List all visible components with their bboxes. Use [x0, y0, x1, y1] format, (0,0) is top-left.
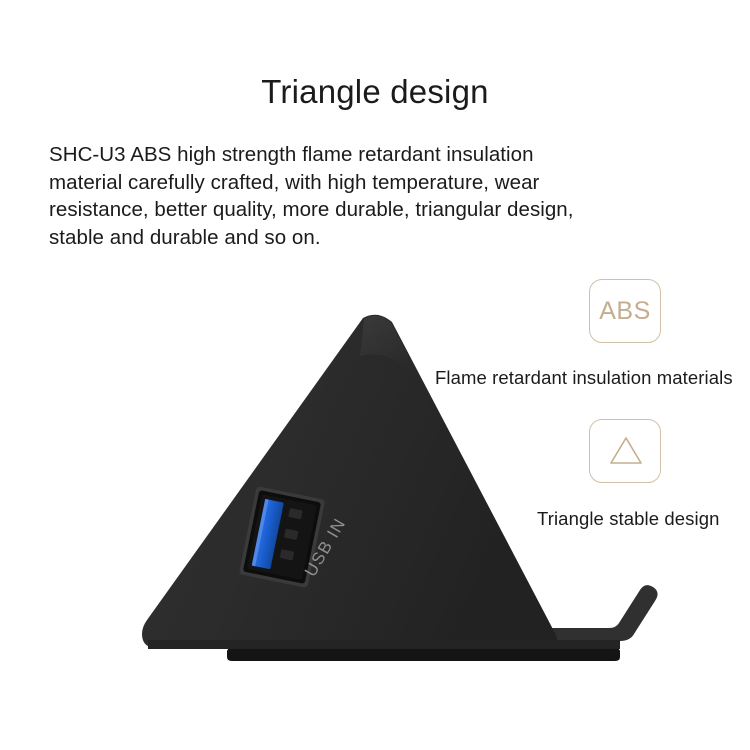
product-feature-slide: Triangle design SHC-U3 ABS high strength… [0, 0, 750, 750]
description-paragraph: SHC-U3 ABS high strength flame retardant… [49, 141, 709, 251]
description-line-2: material carefully crafted, with high te… [49, 169, 709, 197]
stand-body [142, 315, 557, 648]
triangle-outline-icon [590, 420, 662, 484]
badge-triangle-stability [589, 419, 661, 483]
feature-caption-triangle-stable: Triangle stable design [537, 508, 720, 530]
badge-abs-material: ABS [589, 279, 661, 343]
description-line-4: stable and durable and so on. [49, 224, 709, 252]
description-line-1: SHC-U3 ABS high strength flame retardant… [49, 141, 709, 169]
feature-caption-flame-retardant: Flame retardant insulation materials [435, 367, 733, 389]
usb-port [239, 486, 326, 588]
description-line-3: resistance, better quality, more durable… [49, 196, 709, 224]
abs-material-icon: ABS [590, 280, 660, 342]
stand-base [148, 640, 620, 661]
phone-rest-hook [470, 585, 658, 641]
page-title: Triangle design [0, 74, 750, 110]
usb-in-label: USB IN [301, 515, 350, 580]
